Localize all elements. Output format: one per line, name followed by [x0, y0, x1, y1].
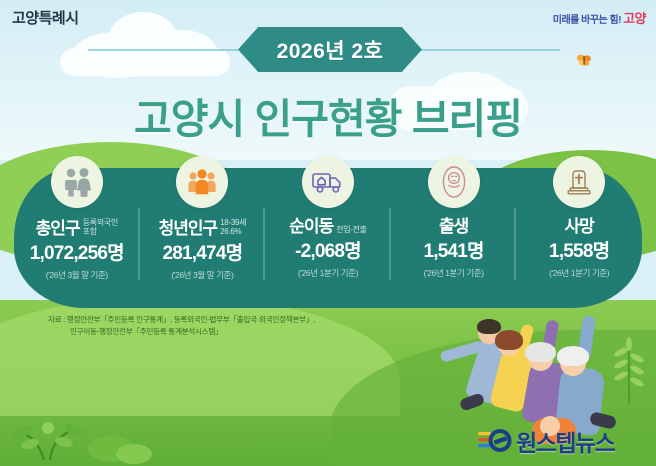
stat-label: 출생	[439, 218, 468, 235]
gravestone-icon	[553, 156, 605, 208]
stat-value: 1,558명	[549, 242, 609, 261]
bush-shape	[116, 444, 152, 464]
stat-label: 사망	[565, 218, 594, 235]
swaddled-baby-icon	[428, 156, 480, 208]
stat-sublabel: 전입-전출	[336, 225, 367, 235]
source-footnote: 자료 : 행정안전부「주민등록 인구통계」, 등록외국인-법무부「출입국·외국인…	[48, 314, 315, 338]
city-brand-logo: 미래를 바꾸는 힘!고양	[553, 8, 646, 27]
stat-as-of: ('26년 3월 말 기준)	[171, 269, 233, 281]
stat-value: 1,541명	[423, 242, 483, 261]
stat-as-of: ('26년 1분기 기준)	[298, 267, 358, 279]
stat-as-of: ('26년 3월 말 기준)	[46, 269, 108, 281]
figure-hair	[525, 342, 556, 362]
stat-label-row: 출생	[439, 218, 468, 235]
stat-as-of: ('26년 1분기 기준)	[424, 267, 484, 279]
leaf-cluster-icon	[10, 392, 90, 460]
brand-slogan: 미래를 바꾸는 힘!	[553, 15, 621, 26]
stat-sublabel-line1: 등록외국인	[83, 218, 118, 227]
two-people-icon	[51, 156, 103, 208]
brand-name: 고양	[623, 11, 646, 26]
header-rule-right	[420, 49, 560, 51]
stats-card-list: 총인구 등록외국인 포함 1,072,256명 ('26년 3월 말 기준)	[14, 150, 642, 310]
stat-label-row: 순이동 전입-전출	[289, 218, 367, 235]
stat-as-of: ('26년 1분기 기준)	[549, 267, 609, 279]
publisher-logo: 원스텝뉴스	[478, 424, 614, 458]
page-title: 고양시 인구현황 브리핑	[0, 85, 656, 145]
stat-card-total-population: 총인구 등록외국인 포함 1,072,256명 ('26년 3월 말 기준)	[14, 150, 140, 310]
people-group-icon	[176, 156, 228, 208]
stat-label: 순이동	[289, 218, 333, 235]
stat-sublabel-line1: 전입-전출	[336, 225, 367, 234]
stat-label-row: 사망	[565, 218, 594, 235]
cloud-shape	[60, 48, 230, 76]
footnote-line-2: 인구이동-행정안전부「주민등록 통계분석시스템」	[48, 326, 315, 338]
city-name: 고양특례시	[12, 7, 79, 28]
butterfly-icon	[576, 53, 592, 67]
moving-truck-icon	[302, 156, 354, 208]
stat-label-row: 청년인구 18-39세 26.6%	[159, 218, 247, 237]
figure-hair	[557, 346, 589, 366]
stat-sublabel-line2: 26.6%	[220, 227, 241, 236]
stat-sublabel-line2: 포함	[83, 227, 97, 236]
publisher-name: 원스텝뉴스	[516, 424, 614, 458]
onestepnews-mark-icon	[478, 429, 512, 453]
stat-card-net-migration: 순이동 전입-전출 -2,068명 ('26년 1분기 기준)	[265, 150, 391, 310]
stat-sublabel-line1: 18-39세	[220, 218, 246, 227]
stat-value: 1,072,256명	[30, 244, 124, 263]
stat-card-youth-population: 청년인구 18-39세 26.6% 281,474명 ('26년 3월 말 기준…	[140, 150, 266, 310]
footnote-line-1: 자료 : 행정안전부「주민등록 인구통계」, 등록외국인-법무부「출입국·외국인…	[48, 315, 315, 324]
stat-label: 총인구	[36, 220, 80, 237]
stat-value: -2,068명	[295, 242, 361, 261]
header-rule-left	[88, 49, 238, 51]
figure-shoe	[459, 392, 486, 411]
stat-sublabel: 18-39세 26.6%	[220, 218, 246, 237]
infographic-page: 고양특례시 미래를 바꾸는 힘!고양 2026년 2호 고양시 인구현황 브리핑	[0, 0, 656, 466]
stat-label-row: 총인구 등록외국인 포함	[36, 218, 118, 237]
figure-hair	[477, 319, 501, 334]
issue-badge: 2026년 2호	[238, 27, 422, 72]
stat-sublabel: 등록외국인 포함	[83, 218, 118, 237]
stat-label: 청년인구	[159, 220, 218, 237]
stat-value: 281,474명	[163, 244, 243, 263]
stat-card-deaths: 사망 1,558명 ('26년 1분기 기준)	[516, 150, 642, 310]
figure-hair	[495, 330, 523, 350]
stat-card-births: 출생 1,541명 ('26년 1분기 기준)	[391, 150, 517, 310]
